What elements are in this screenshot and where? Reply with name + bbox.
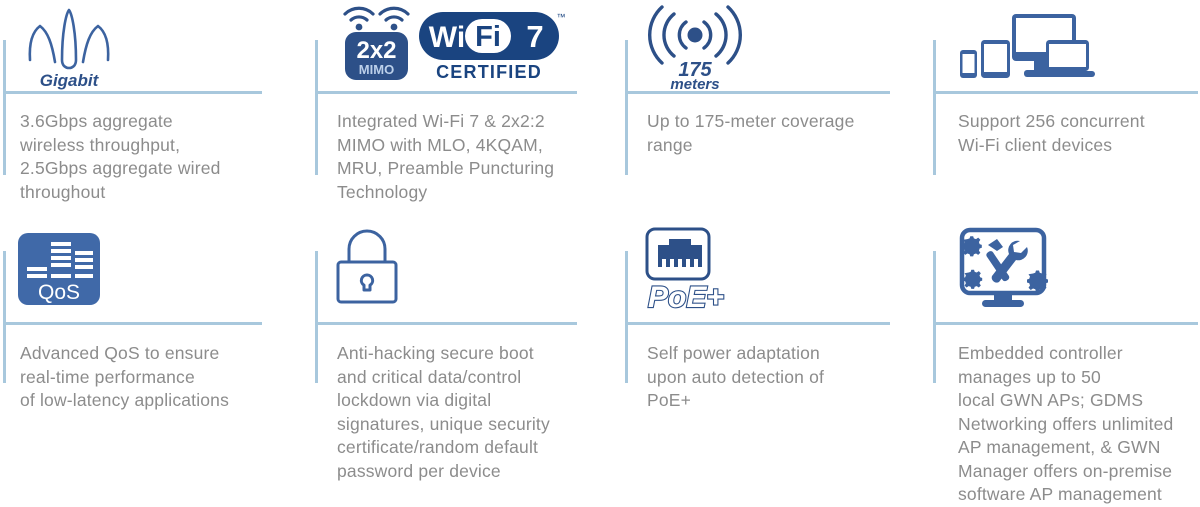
- wifi7-certified-icon: 2x2 MIMO Wi Fi 7 ™ CERTIFIED: [339, 0, 569, 93]
- padlock-icon: [332, 229, 402, 310]
- feature-card-security: Anti-hacking secure boot and critical da…: [312, 215, 612, 487]
- icon-area: 175 meters: [622, 0, 922, 91]
- feature-description: Integrated Wi-Fi 7 & 2x2:2 MIMO with MLO…: [337, 110, 602, 204]
- feature-description: 3.6Gbps aggregate wireless throughput, 2…: [20, 110, 290, 204]
- feature-description: Anti-hacking secure boot and critical da…: [337, 342, 602, 483]
- qos-equalizer-icon: QoS: [18, 233, 100, 310]
- feature-card-management: Embedded controller manages up to 50 loc…: [930, 215, 1200, 487]
- icon-area: Gigabit: [0, 0, 300, 91]
- poe-icon-label: PoE+: [648, 281, 724, 313]
- card-horizontal-rule: [3, 322, 262, 325]
- feature-description: Support 256 concurrent Wi-Fi client devi…: [958, 110, 1190, 157]
- feature-card-wifi7: 2x2 MIMO Wi Fi 7 ™ CERTIFIED Integrated …: [312, 0, 612, 215]
- wifi-badge-fi: Fi: [475, 21, 501, 53]
- card-horizontal-rule: [315, 322, 577, 325]
- monitor-tools-management-icon: [958, 227, 1054, 316]
- wifi-badge-number: 7: [526, 19, 543, 54]
- icon-area: 2x2 MIMO Wi Fi 7 ™ CERTIFIED: [312, 0, 612, 91]
- qos-icon-label: QoS: [38, 281, 80, 304]
- feature-grid: Gigabit 3.6Gbps aggregate wireless throu…: [0, 0, 1200, 487]
- mimo-badge-title: 2x2: [356, 37, 396, 64]
- wifi-badge-trademark: ™: [557, 12, 566, 22]
- mimo-badge-sub: MIMO: [359, 62, 394, 77]
- feature-card-gigabit: Gigabit 3.6Gbps aggregate wireless throu…: [0, 0, 300, 215]
- icon-area: [312, 215, 612, 322]
- wifi-badge-certified: CERTIFIED: [436, 62, 542, 82]
- gigabit-antenna-icon: Gigabit: [22, 2, 118, 95]
- coverage-range-icon: 175 meters: [640, 2, 750, 95]
- feature-card-range: 175 meters Up to 175-meter coverage rang…: [622, 0, 922, 215]
- feature-card-clients: Support 256 concurrent Wi-Fi client devi…: [930, 0, 1200, 215]
- icon-area: QoS: [0, 215, 300, 322]
- wifi-badge-wi: Wi: [429, 21, 465, 54]
- card-horizontal-rule: [625, 322, 890, 325]
- range-icon-label-bottom: meters: [670, 76, 719, 90]
- feature-card-poe: PoE+ Self power adaptation upon auto det…: [622, 215, 922, 487]
- feature-card-qos: QoS Advanced QoS to ensure real-time per…: [0, 215, 300, 487]
- card-horizontal-rule: [933, 322, 1198, 325]
- multi-device-icon: [958, 8, 1096, 91]
- icon-area: PoE+: [622, 215, 922, 322]
- feature-description: Advanced QoS to ensure real-time perform…: [20, 342, 290, 413]
- feature-description: Up to 175-meter coverage range: [647, 110, 912, 157]
- icon-area: [930, 215, 1200, 322]
- poe-plus-ethernet-icon: PoE+: [642, 227, 742, 318]
- card-horizontal-rule: [933, 91, 1198, 94]
- feature-description: Embedded controller manages up to 50 loc…: [958, 342, 1190, 507]
- icon-area: [930, 0, 1200, 91]
- feature-description: Self power adaptation upon auto detectio…: [647, 342, 912, 413]
- gigabit-icon-label: Gigabit: [40, 71, 100, 90]
